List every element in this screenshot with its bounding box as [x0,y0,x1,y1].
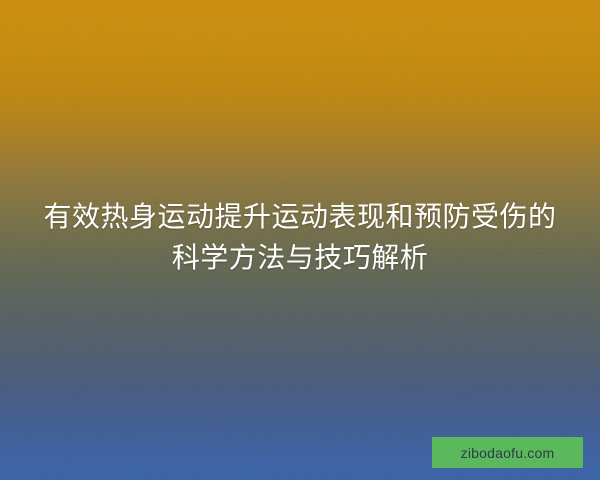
title-line-1: 有效热身运动提升运动表现和预防受伤的 [24,196,576,237]
watermark-label: zibodaofu.com [461,446,555,460]
title-line-2: 科学方法与技巧解析 [24,237,576,278]
watermark-badge[interactable]: zibodaofu.com [432,437,583,468]
page-title: 有效热身运动提升运动表现和预防受伤的 科学方法与技巧解析 [0,196,600,278]
image-canvas: 有效热身运动提升运动表现和预防受伤的 科学方法与技巧解析 zibodaofu.c… [0,0,600,480]
